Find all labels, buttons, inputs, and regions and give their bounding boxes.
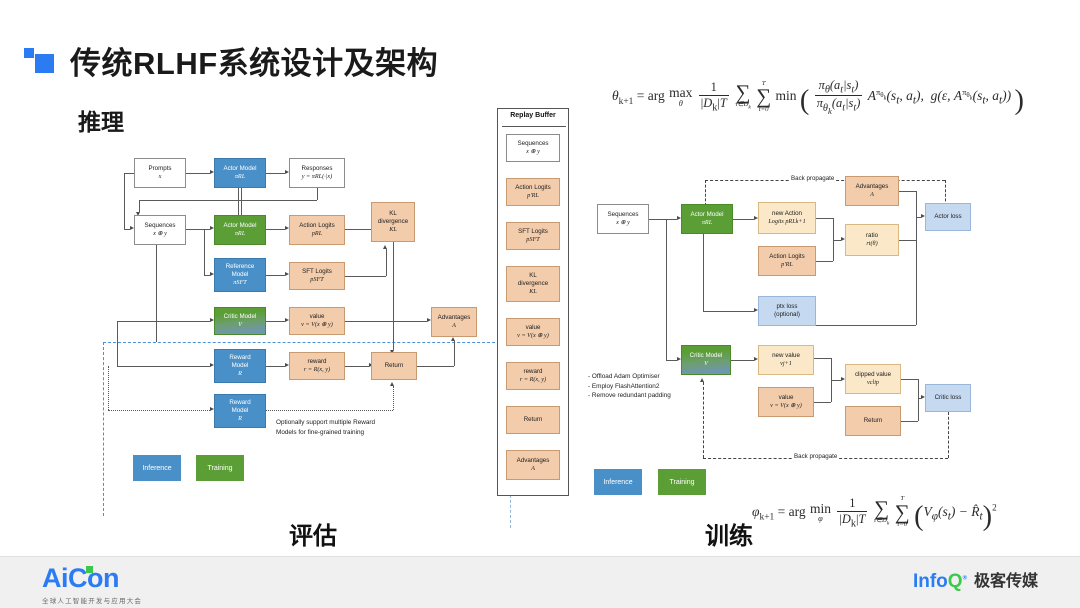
connector <box>345 276 386 277</box>
connector <box>649 219 677 220</box>
backprop-path-top <box>705 180 706 206</box>
node-return-right: Return <box>845 406 901 436</box>
buffer-item-value: value v = V(x ⊕ y) <box>506 318 560 346</box>
connector <box>393 242 394 350</box>
connector <box>666 360 677 361</box>
connector <box>417 366 454 367</box>
node-actor-model-forward: Actor Model πRL <box>214 215 266 245</box>
connector <box>703 234 704 311</box>
connector <box>816 325 916 326</box>
connector <box>916 191 917 325</box>
node-value: value v = V(x ⊕ y) <box>289 307 345 335</box>
connector-dotted <box>108 366 109 410</box>
backprop-path-bottom <box>948 412 949 458</box>
connector <box>124 173 134 174</box>
arrowhead <box>390 382 394 386</box>
aicon-wordmark: AiCon <box>42 563 119 593</box>
connector <box>666 219 667 360</box>
connector <box>733 219 754 220</box>
weight-share-line <box>241 188 242 215</box>
weight-share-line <box>238 188 239 215</box>
node-actor-model-right: Actor Model πRL <box>681 204 733 234</box>
registered-mark: ® <box>963 576 967 582</box>
node-reward-model-primary: Reward Model R <box>214 349 266 383</box>
buffer-item-sequences: Sequences x ⊕ y <box>506 134 560 162</box>
connector <box>266 229 285 230</box>
node-reward: reward r = R(x, y) <box>289 352 345 380</box>
connector <box>386 249 387 276</box>
backprop-label-top: Back propagate <box>789 175 836 182</box>
connector <box>901 421 918 422</box>
node-actor-loss: Actor loss <box>925 203 971 231</box>
connector <box>266 173 285 174</box>
node-advantages: Advantages A <box>431 307 477 337</box>
node-clipped-value: clipped value vclip <box>845 364 901 394</box>
node-advantages-right: Advantages A <box>845 176 899 206</box>
infoq-chinese-name: 极客传媒 <box>974 574 1038 590</box>
connector <box>814 358 831 359</box>
node-prompts: Prompts x <box>134 158 186 188</box>
node-ratio: ratio rt(θ) <box>845 224 899 256</box>
connector <box>345 366 369 367</box>
legend-inference-right: Inference <box>594 469 642 495</box>
connector <box>117 321 118 366</box>
arrowhead <box>700 378 704 382</box>
node-actor-model-generate: Actor Model πRL <box>214 158 266 188</box>
connector <box>266 275 285 276</box>
section-caption-evaluation: 评估 <box>289 516 337 551</box>
node-return: Return <box>371 352 417 380</box>
connector <box>139 200 140 212</box>
connector <box>124 173 125 229</box>
equation-value-objective: φk+1 = arg minφ 1|Dk|T ∑τ∈Dk T∑t=0 (Vφ(s… <box>752 496 997 529</box>
connector <box>266 321 285 322</box>
connector <box>186 229 204 230</box>
connector <box>816 261 833 262</box>
infoq-q-text: Q <box>948 571 963 592</box>
node-ptx-loss: ptx loss (optional) <box>758 296 816 326</box>
section-caption-training: 训练 <box>705 516 753 551</box>
connector <box>117 366 210 367</box>
connector <box>454 341 455 366</box>
connector <box>901 379 918 380</box>
arrowhead <box>383 245 387 249</box>
slide-title-row: 传统RLHF系统设计及架构 <box>24 38 438 83</box>
infoq-info-text: Info <box>913 571 948 592</box>
infoq-logo: InfoQ® 极客传媒 <box>913 572 1038 591</box>
connector-dotted <box>266 410 393 411</box>
connector-dotted <box>393 386 394 410</box>
page-title: 传统RLHF系统设计及架构 <box>70 38 438 83</box>
reward-model-note: Optionally support multiple Reward Model… <box>276 418 436 437</box>
connector <box>186 173 210 174</box>
legend-training-right: Training <box>658 469 706 495</box>
connector-dotted <box>108 410 210 411</box>
node-responses: Responses y = πRL(·|x) <box>289 158 345 188</box>
connector <box>833 240 841 241</box>
optimisation-notes: - Offload Adam Optimiser - Employ FlashA… <box>588 372 698 401</box>
footer-bar: AiCon 全球人工智能开发与应用大会 InfoQ® 极客传媒 <box>0 556 1080 608</box>
aicon-tagline: 全球人工智能开发与应用大会 <box>42 595 142 605</box>
connector <box>816 218 833 219</box>
node-critic-loss: Critic loss <box>925 384 971 412</box>
node-action-logits: Action Logits pRL <box>289 215 345 245</box>
node-reference-model: Reference Model πSFT <box>214 258 266 292</box>
buffer-item-kl-divergence: KL divergence KL <box>506 266 560 302</box>
connector <box>317 188 318 200</box>
backprop-path-bottom <box>703 382 704 458</box>
connector <box>204 229 205 275</box>
legend-inference-left: Inference <box>133 455 181 481</box>
connector <box>345 321 427 322</box>
aicon-logo: AiCon 全球人工智能开发与应用大会 <box>42 565 142 605</box>
node-new-value: new value vj+1 <box>758 345 814 375</box>
connector <box>899 240 916 241</box>
connector <box>703 311 754 312</box>
node-old-action-logits: Action Logits p'RL <box>758 246 816 276</box>
buffer-item-sft-logits: SFT Logits pSFT <box>506 222 560 250</box>
arrowhead <box>451 337 455 341</box>
backprop-label-bottom: Back propagate <box>792 453 839 460</box>
node-critic-model-right: Critic Model V <box>681 345 731 375</box>
connector <box>918 379 919 421</box>
connector <box>117 321 210 322</box>
replay-buffer-title: Replay Buffer <box>498 112 568 119</box>
connector <box>899 191 916 192</box>
node-critic-model: Critic Model V <box>214 307 266 335</box>
title-bullet-icon <box>24 46 54 76</box>
divider <box>502 126 566 127</box>
buffer-item-return: Return <box>506 406 560 434</box>
slide-subtitle: 推理 <box>78 103 124 137</box>
node-sft-logits: SFT Logits pSFT <box>289 262 345 290</box>
buffer-item-action-logits: Action Logits p'RL <box>506 178 560 206</box>
node-value-right: value v = V(x ⊕ y) <box>758 387 814 417</box>
equation-policy-objective: θk+1 = arg maxθ 1|Dk|T ∑τ∈Dk T∑t=0 min (… <box>612 78 1024 116</box>
node-sequences: Sequences x ⊕ y <box>134 215 186 245</box>
connector <box>831 380 841 381</box>
connector <box>814 402 831 403</box>
buffer-item-advantages: Advantages A <box>506 450 560 480</box>
node-kl-divergence: KL divergence KL <box>371 202 415 242</box>
buffer-item-reward: reward r = R(x, y) <box>506 362 560 390</box>
replay-buffer-panel: Replay Buffer <box>497 108 569 496</box>
node-sequences-right: Sequences x ⊕ y <box>597 204 649 234</box>
node-reward-model-optional: Reward Model R <box>214 394 266 428</box>
divider <box>0 556 1080 557</box>
connector <box>731 360 754 361</box>
connector <box>266 366 285 367</box>
connector <box>156 245 157 342</box>
legend-training-left: Training <box>196 455 244 481</box>
node-new-action-logits: new Action Logits pRLk+1 <box>758 202 816 234</box>
aicon-accent-square <box>86 566 93 573</box>
connector <box>139 200 317 201</box>
